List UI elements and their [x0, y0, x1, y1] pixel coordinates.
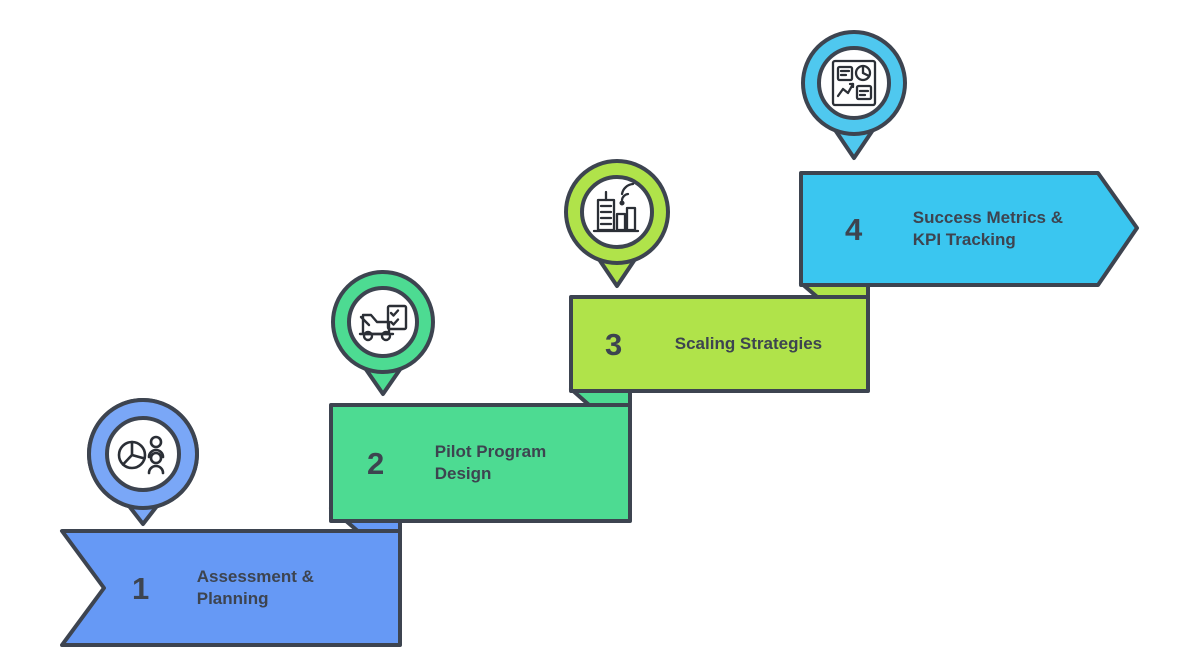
- step-3-pin[interactable]: [558, 156, 676, 290]
- step-4-pin[interactable]: [795, 26, 913, 162]
- step-2-pin[interactable]: [325, 268, 441, 398]
- step-1-pin[interactable]: [80, 396, 206, 528]
- infographic-canvas: 4 Success Metrics & KPI Tracking 3 Scali…: [0, 0, 1200, 671]
- pin-marker-layer: [0, 0, 1200, 671]
